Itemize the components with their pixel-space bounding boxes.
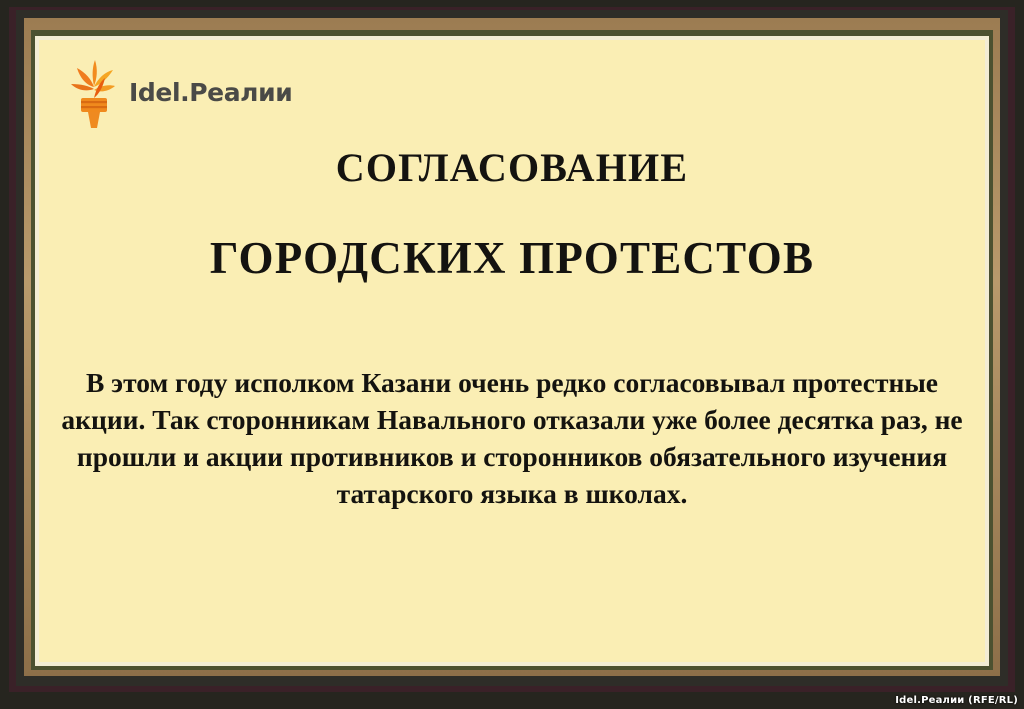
infographic-card: Idel.Реалии СОГЛАСОВАНИЕ ГОРОДСКИХ ПРОТЕ… xyxy=(0,0,1024,709)
photo-credit: Idel.Реалии (RFE/RL) xyxy=(895,695,1018,706)
brand-logo: Idel.Реалии xyxy=(65,54,292,130)
body-paragraph: В этом году исполком Казани очень редко … xyxy=(57,365,967,512)
heading-line-1: СОГЛАСОВАНИЕ xyxy=(39,148,985,188)
heading-line-2: ГОРОДСКИХ ПРОТЕСТОВ xyxy=(39,236,985,281)
torch-flame-icon xyxy=(65,54,121,130)
heading-block: СОГЛАСОВАНИЕ ГОРОДСКИХ ПРОТЕСТОВ xyxy=(39,148,985,281)
brand-wordmark: Idel.Реалии xyxy=(129,78,292,107)
card-canvas: Idel.Реалии СОГЛАСОВАНИЕ ГОРОДСКИХ ПРОТЕ… xyxy=(39,40,985,662)
